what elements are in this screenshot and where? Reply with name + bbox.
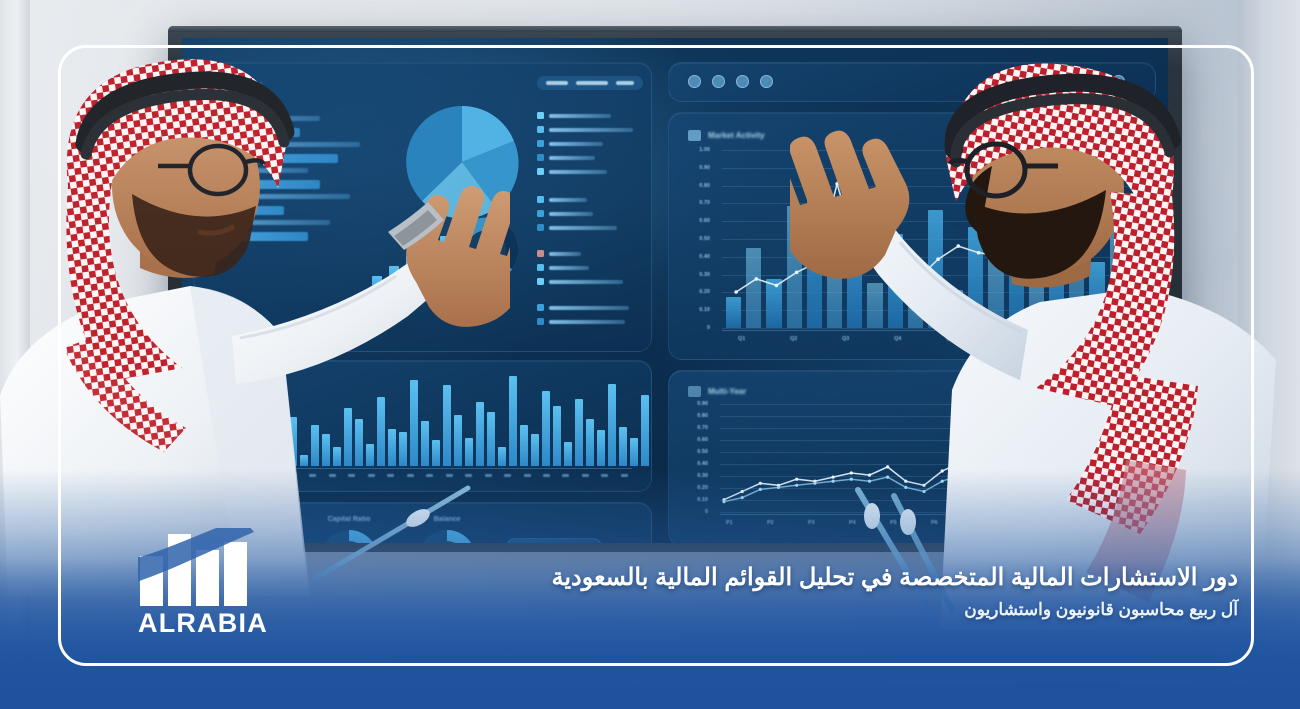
legend-grid-icon [688, 386, 701, 397]
market-ytick-6: 0.40 [692, 254, 710, 260]
multiyear-ytick-1: 0.80 [690, 413, 708, 419]
wide-bar-32 [564, 442, 572, 466]
banner-subline: آل ربيع محاسبون قانونيون واستشاريون [248, 600, 1238, 620]
logo-bars [138, 528, 260, 606]
market-ytick-9: 0.10 [692, 307, 710, 313]
wide-bar-37 [619, 427, 627, 466]
market-activity-legend: Market Activity [688, 130, 765, 141]
banner-headline: دور الاستشارات المالية المتخصصة في تحليل… [248, 562, 1238, 594]
multiyear-ytick-5: 0.40 [690, 461, 708, 467]
wide-bar-29 [531, 434, 539, 466]
multi-year-title: Multi-Year [708, 387, 746, 396]
market-ytick-10: 0 [692, 325, 710, 331]
market-ytick-7: 0.30 [692, 272, 710, 278]
wide-bar-36 [608, 384, 616, 467]
logo-wordmark: ALRABIA [138, 610, 260, 637]
toolbar-pill-filter[interactable] [546, 81, 568, 85]
legend-swatch-icon [688, 130, 701, 141]
logo-swoosh-icon [138, 528, 260, 606]
alrabia-logo: ALRABIA [138, 528, 260, 637]
toolbar-pill-new[interactable] [616, 81, 634, 85]
wide-bar-31 [553, 406, 561, 466]
wide-bar-34 [586, 419, 594, 466]
toolbar-pill-export[interactable] [576, 81, 608, 85]
market-ytick-0: 1.00 [692, 147, 710, 153]
market-ytick-2: 0.80 [692, 183, 710, 189]
market-ytick-3: 0.70 [692, 200, 710, 206]
multi-year-legend: Multi-Year [688, 386, 746, 397]
wide-bar-28 [520, 425, 528, 466]
poster-canvas: Dashboard [0, 0, 1300, 709]
market-activity-title: Market Activity [708, 131, 765, 140]
window-dots[interactable] [688, 75, 773, 88]
wide-bar-35 [597, 430, 605, 466]
window-dot-4[interactable] [760, 75, 773, 88]
market-xtick-0: Q1 [738, 336, 745, 342]
market-ytick-4: 0.60 [692, 218, 710, 224]
wide-bar-33 [575, 399, 583, 467]
wide-bar-27 [509, 376, 517, 466]
wide-bar-39 [641, 395, 649, 466]
multiyear-ytick-2: 0.70 [690, 425, 708, 431]
multiyear-ytick-0: 0.90 [690, 401, 708, 407]
multiyear-ytick-4: 0.50 [690, 449, 708, 455]
window-dot-1[interactable] [688, 75, 701, 88]
wide-bar-30 [542, 391, 550, 466]
multiyear-ytick-3: 0.60 [690, 437, 708, 443]
market-ytick-5: 0.50 [692, 236, 710, 242]
window-dot-2[interactable] [712, 75, 725, 88]
market-ytick-1: 0.90 [692, 165, 710, 171]
left-panel-toolbar[interactable] [537, 76, 643, 90]
market-ytick-8: 0.20 [692, 289, 710, 295]
wide-bar-38 [630, 438, 638, 466]
window-dot-3[interactable] [736, 75, 749, 88]
